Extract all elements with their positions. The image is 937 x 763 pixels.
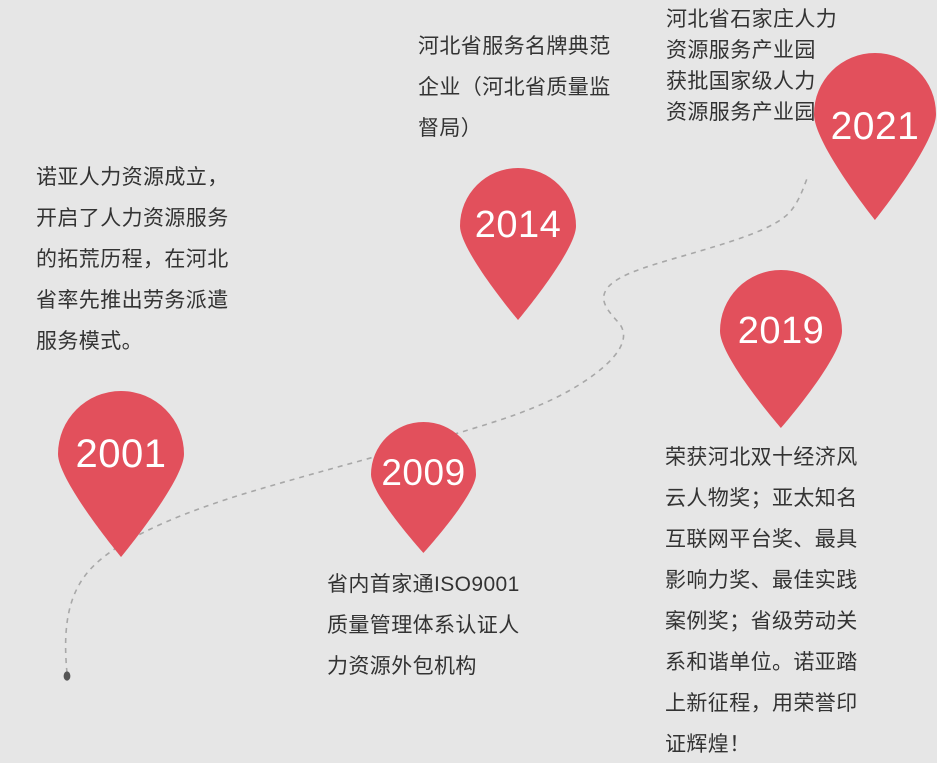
milestone-caption-2009: 省内首家通ISO9001 质量管理体系认证人 力资源外包机构 [327, 564, 577, 687]
map-pin-2009[interactable]: 2009 [366, 422, 481, 553]
milestone-caption-2021: 河北省石家庄人力 资源服务产业园 获批国家级人力 资源服务产业园 [666, 4, 881, 128]
milestone-caption-2001: 诺亚人力资源成立， 开启了人力资源服务 的拓荒历程，在河北 省率先推出劳务派遣 … [36, 157, 278, 362]
map-pin-2014[interactable]: 2014 [455, 163, 581, 320]
milestone-caption-2014: 河北省服务名牌典范 企业（河北省质量监 督局） [418, 26, 648, 149]
map-pin-2019[interactable]: 2019 [714, 270, 848, 428]
milestone-caption-2019: 荣获河北双十经济风 云人物奖；亚太知名 互联网平台奖、最具 影响力奖、最佳实践 … [665, 437, 905, 763]
timeline-infographic: 诺亚人力资源成立， 开启了人力资源服务 的拓荒历程，在河北 省率先推出劳务派遣 … [0, 0, 937, 763]
map-pin-2001[interactable]: 2001 [52, 385, 190, 557]
path-start-dot [64, 671, 71, 680]
